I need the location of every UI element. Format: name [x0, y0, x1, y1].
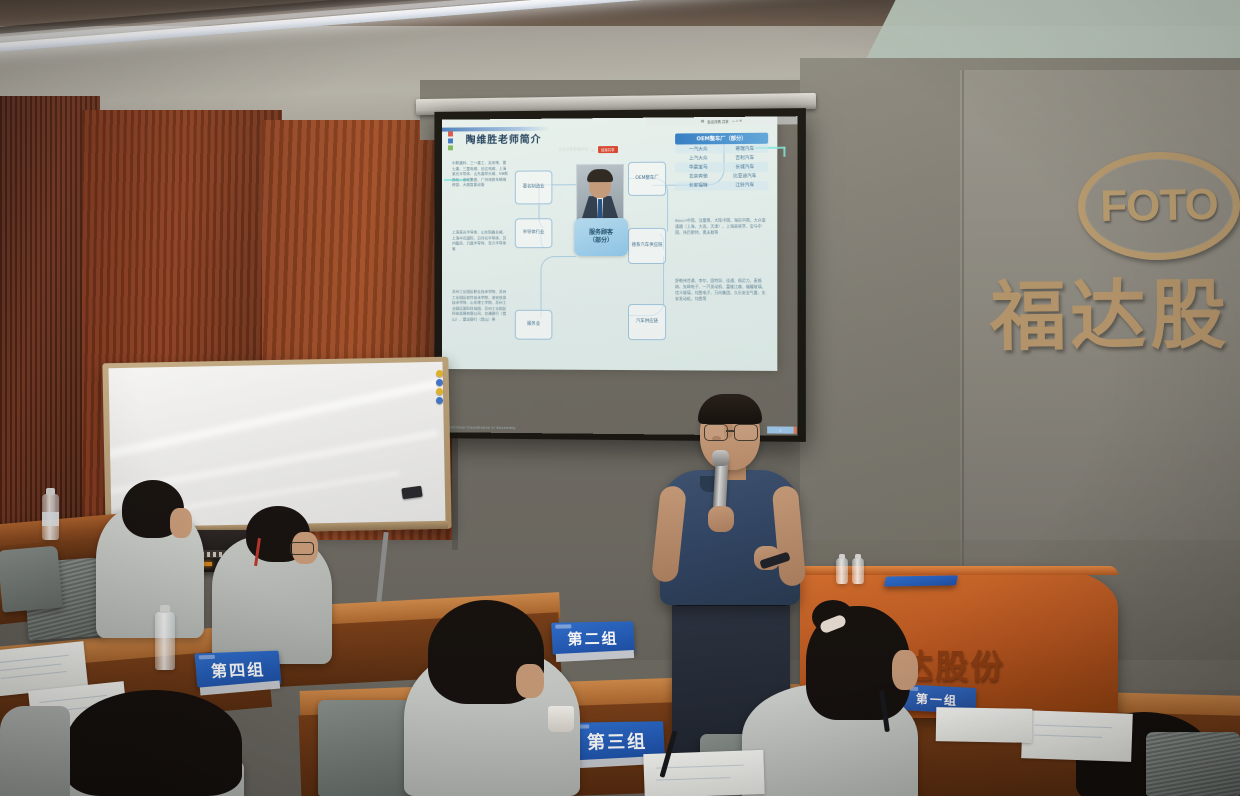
paper-right-2[interactable] [936, 707, 1033, 743]
oem-row: 北京奔驰 比亚迪汽车 [675, 172, 768, 182]
paper-right-1[interactable] [1021, 710, 1133, 762]
oem-cell: 江铃汽车 [722, 181, 769, 191]
slide-supply-paragraph-1: Bosch中国、法雷奥、大陆中国、海拉中国、大众变速器（上海、大连、天津）、上海… [675, 217, 768, 235]
screen-share-control-bar[interactable]: 正在共享屏幕内容 ▤ 结束共享 [558, 146, 617, 153]
chair-right-far-mesh [1146, 732, 1240, 796]
bottle-podium-2[interactable] [852, 558, 864, 584]
wall-company-name: 福达股 [989, 253, 1230, 366]
oem-cell: 一汽大众 [675, 144, 721, 154]
slide-paragraph-2: 上海某光半导体、山东阳鑫长威、上海中芯国际、日月光半导体、苏州晶凯、力晶半导体、… [452, 230, 509, 252]
center-node-line-1: 服务顾客 [589, 229, 613, 237]
whiteboard-magnet-yellow-2[interactable] [436, 388, 443, 395]
oem-cell: 吉利汽车 [722, 153, 769, 163]
chair-back-left-0[interactable] [0, 546, 63, 613]
participant-3-face [516, 664, 544, 698]
participant-1-face [170, 508, 192, 538]
slide-paragraph-3: 苏州工业园区职业技术学院、苏州工业园区软件技术学院、淮安信息技术学院、山东理工学… [452, 290, 509, 323]
center-node-line-2: （部分） [589, 237, 613, 245]
paper-cup[interactable] [548, 706, 574, 732]
whiteboard-magnet-yellow-1[interactable] [436, 370, 443, 377]
projection-screen-surface[interactable]: 正在共享屏幕内容 ▤ 结束共享 ▤ 会议详情 共享 — □ ✕ 陶维胜老师简介 … [442, 116, 797, 436]
whiteboard-magnet-blue-2[interactable] [436, 397, 443, 404]
oem-cell: 奇瑞汽车 [722, 144, 769, 154]
microphone-head [712, 450, 729, 466]
whiteboard-glare-1 [108, 375, 445, 459]
slide-supply-paragraph-2: 舒勒伟世通、李尔、固特异、佳通、佩尼力、麦格纳、矢崎电子、一汽发动机、富维江森、… [675, 278, 768, 302]
oem-panel: OEM整车厂（部分） 一汽大众 奇瑞汽车 上汽大众 吉利汽车 华晨宝马 长城汽车… [675, 133, 768, 191]
node-famous-manufacturing[interactable]: 著名制造业 [515, 170, 553, 204]
portrait-tie [598, 199, 602, 219]
screen-share-status-label: 正在共享屏幕内容 [558, 147, 588, 152]
whiteboard-magnet-blue-1[interactable] [436, 379, 443, 386]
bottle-left-front[interactable] [155, 612, 175, 670]
rack-led [207, 552, 210, 557]
oem-cell: 比亚迪汽车 [722, 172, 769, 182]
presenter-hair [698, 394, 762, 424]
oem-cell: 华晨宝马 [675, 163, 721, 173]
oem-cell: 长安福特 [675, 181, 721, 190]
node-oem-plant[interactable]: OEM整车厂 [628, 162, 666, 196]
oem-row: 长安福特 江铃汽车 [675, 181, 768, 191]
presenter-left-hand [708, 506, 734, 532]
foto-logo-text: FOTO [1100, 180, 1218, 232]
slide-title: 陶维胜老师简介 [466, 131, 542, 147]
placard-tab [199, 655, 215, 660]
bottle-podium-1[interactable] [836, 558, 848, 584]
node-semiconductor[interactable]: 半导体行业 [515, 218, 553, 248]
node-german-supply[interactable]: 德系汽车供应链 [628, 228, 666, 264]
oem-cell: 上汽大众 [675, 153, 721, 163]
screen-share-menu-icon[interactable]: ▤ [591, 148, 595, 152]
slide-paragraph-1: 中联重科、三一重工、足忠唯、富士康、三菱电梯、迅达电梯、上海某光半导体、山东晶导… [452, 161, 509, 189]
rack-led [213, 552, 216, 557]
bottle-left-back[interactable] [42, 494, 59, 540]
bottle-cap [160, 605, 170, 613]
oem-cell: 长城汽车 [722, 162, 769, 172]
node-center-service-customers[interactable]: 服务顾客 （部分） [574, 218, 628, 256]
slide-bullet-red [448, 131, 453, 136]
slide-bullet-green [448, 145, 453, 150]
oem-panel-header: OEM整车厂（部分） [675, 133, 768, 145]
oem-cell: 北京奔驰 [675, 172, 721, 182]
slide-window-bar[interactable]: ▤ 会议详情 共享 — □ ✕ [646, 116, 777, 125]
bottle-cap [855, 554, 861, 559]
slide-window-label: 会议详情 共享 [707, 118, 729, 123]
glasses-bridge [726, 430, 734, 432]
teal-corner-mark-right-v [784, 147, 786, 157]
placard-tab [555, 624, 571, 628]
glasses-right-lens [734, 424, 758, 441]
glasses-left-lens [704, 424, 728, 441]
node-auto-supply[interactable]: 汽车供应链 [628, 304, 666, 340]
participant-2-glasses [290, 542, 314, 555]
participant-4-hair [66, 690, 242, 796]
placard-group-1-label: 第一组 [916, 689, 958, 708]
presentation-slide[interactable]: ▤ 会议详情 共享 — □ ✕ 陶维胜老师简介 中联重科、三一重工、足忠唯、富士… [442, 116, 777, 370]
connector-service-industry [540, 256, 576, 318]
placard-group-2-label: 第二组 [567, 627, 619, 649]
placard-group-4-label: 第四组 [210, 656, 266, 682]
placard-group-1-podium[interactable] [884, 575, 958, 586]
slide-bullet-blue [448, 138, 453, 143]
placard-group-3-label: 第三组 [586, 727, 647, 754]
participant-6-face [892, 650, 918, 690]
slide-window-icon: ▤ [701, 119, 704, 123]
bottle-cap [839, 554, 845, 559]
slide-window-controls[interactable]: — □ ✕ [732, 119, 742, 123]
bottle-label [42, 512, 59, 526]
portrait-hair [587, 169, 613, 182]
stop-share-button[interactable]: 结束共享 [598, 146, 618, 153]
training-room-photo: FOTO 福达股 正在共享屏幕内容 ▤ 结束共享 ▤ 会议详情 共享 — □ ✕… [0, 0, 1240, 796]
instructor-portrait [576, 164, 624, 224]
participant-5-shoulder [0, 706, 70, 796]
node-service-industry[interactable]: 服务业 [515, 310, 553, 340]
bottle-cap [46, 488, 55, 495]
